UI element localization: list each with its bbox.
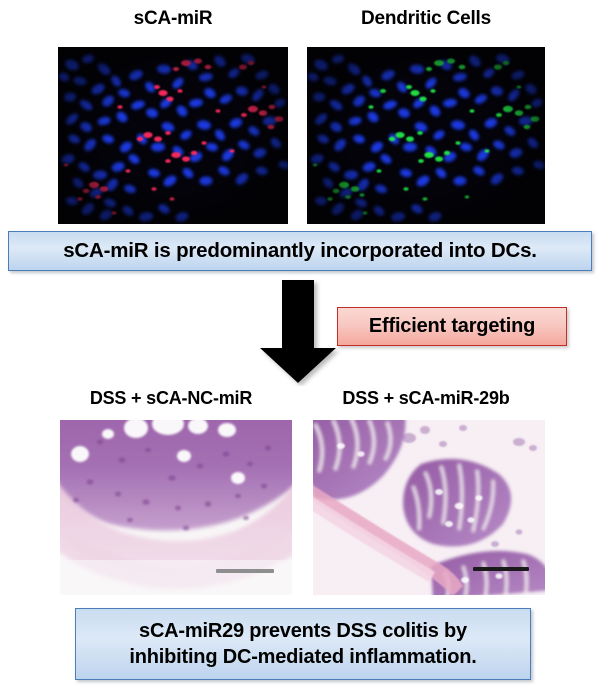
conclusion-line-2: inhibiting DC-mediated inflammation. (129, 644, 476, 670)
panel-label-dendritic-cells: Dendritic Cells (307, 8, 545, 30)
conclusion-banner-top: sCA-miR is predominantly incorporated in… (8, 231, 592, 271)
scale-bar-right (473, 567, 529, 571)
conclusion-line-1: sCA-miR29 prevents DSS colitis by (139, 618, 467, 644)
histology-dss-sca-mir-29b (313, 420, 545, 595)
scale-bar-left (216, 569, 274, 573)
panel-label-sca-mir: sCA-miR (58, 8, 288, 30)
micrograph-sca-mir (58, 47, 288, 224)
histology-dss-sca-nc-mir (60, 420, 292, 595)
panel-label-dss-sca-nc-mir: DSS + sCA-NC-miR (46, 388, 296, 409)
down-arrow-shape (256, 278, 344, 386)
micrograph-dendritic-cells (307, 47, 545, 224)
fluorescence-render-green (307, 47, 545, 224)
conclusion-banner-bottom: sCA-miR29 prevents DSS colitis by inhibi… (75, 608, 531, 680)
down-arrow-icon (256, 278, 344, 386)
callout-efficient-targeting: Efficient targeting (337, 307, 567, 346)
panel-label-dss-sca-mir-29b: DSS + sCA-miR-29b (300, 388, 552, 409)
fluorescence-render-red (58, 47, 288, 224)
